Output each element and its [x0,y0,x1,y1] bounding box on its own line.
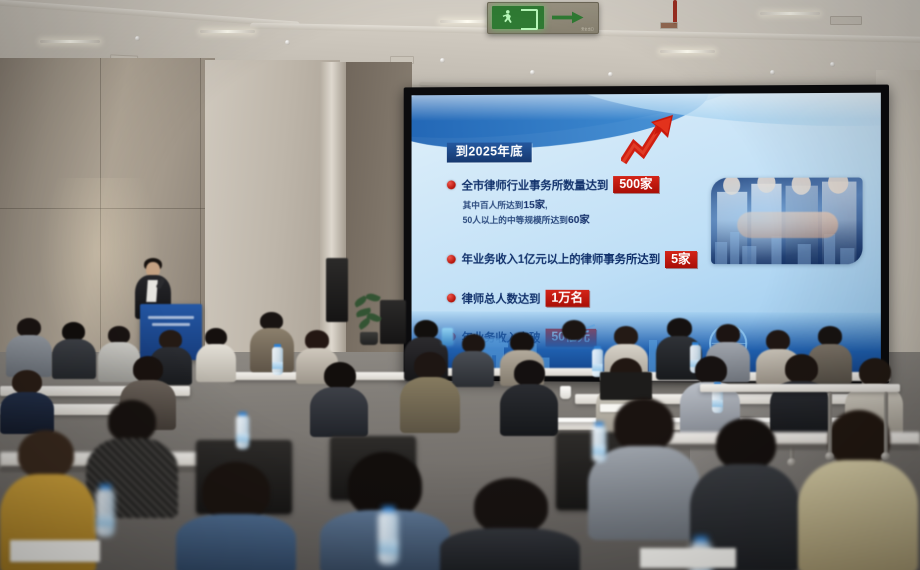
attendee [0,370,54,430]
conference-photo: 安全出口 到2025年底 全市律师行业事务所数量达到 500家 其中百人所达到1… [0,0,920,570]
attendee [440,478,580,570]
subnote-value: 15家 [523,201,545,212]
bullet-value-chip: 5家 [665,251,696,268]
subnote-value: 60家 [568,215,590,226]
bullet-subnote: 其中百人所达到15家, 50人以上的中等规模所达到60家 [463,198,746,228]
right-arrow-icon [552,11,584,24]
bullet-text: 律师总人数达到 [462,290,541,306]
attendee [798,410,918,570]
bullet-dot-icon [447,294,456,303]
notepad [640,548,736,568]
exit-pictogram-panel [492,6,544,29]
desk [700,384,900,392]
attendee [310,362,368,432]
attendee [552,320,596,378]
bullet-text: 全市律师行业事务所数量达到 [462,177,609,193]
bullet-row-2: 年业务收入1亿元以上的律师事务所达到 5家 [447,250,745,268]
attendee [500,360,558,432]
exit-sign-sublabel: 安全出口 [581,27,594,31]
loudspeaker [326,258,348,322]
slide-photo [711,178,862,265]
subnote-suffix: , [545,201,547,211]
attendee [196,328,236,380]
laptop [600,372,652,400]
exit-door-icon [521,9,538,30]
notepad [10,540,100,562]
paper-cup [560,386,571,399]
attendee [52,322,96,378]
bullet-text: 年业务收入1亿元以上的律师事务所达到 [462,251,660,267]
attendee [588,398,700,534]
subnote-prefix: 其中百人所达到 [463,201,524,211]
bullet-row-3: 律师总人数达到 1万名 [447,289,745,307]
bullet-value-chip: 1万名 [545,290,589,307]
attendee [400,352,460,428]
growth-arrow-graphic [621,112,683,168]
subnote-prefix: 50人以上的中等规模所达到 [463,216,568,226]
potted-plant [352,292,386,344]
running-man-icon [501,9,518,26]
red-growth-arrow-icon [621,112,683,168]
bullet-dot-icon [447,255,456,264]
bullet-row-1: 全市律师行业事务所数量达到 500家 [447,176,745,194]
bullet-dot-icon [447,181,456,190]
emergency-exit-sign: 安全出口 [487,2,599,34]
slide-header-badge: 到2025年底 [447,142,532,162]
attendee [6,318,52,376]
attendee [176,462,296,570]
bullet-value-chip: 500家 [613,176,658,193]
